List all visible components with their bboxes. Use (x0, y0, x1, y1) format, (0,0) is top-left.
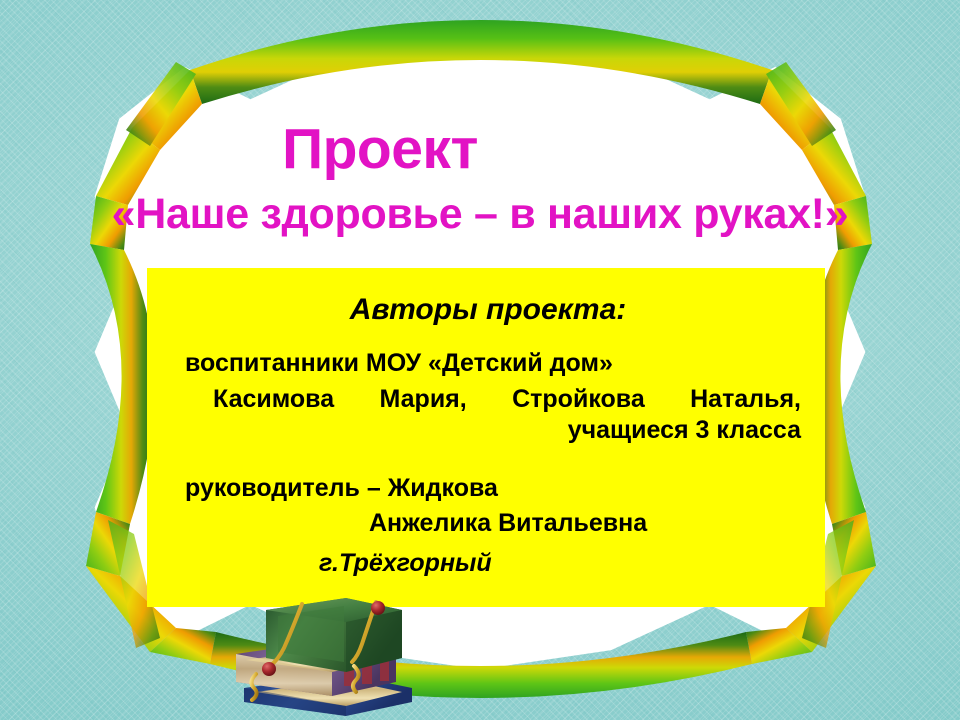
page-title: Проект (0, 120, 760, 178)
tassel-bead-left (262, 662, 276, 676)
page-subtitle: «Наше здоровье – в наших руках!» (0, 190, 960, 238)
authors-line-organisation: воспитанники МОУ «Детский дом» (169, 348, 807, 380)
authors-panel: Авторы проекта: воспитанники МОУ «Детски… (147, 268, 825, 607)
authors-line-city: г.Трёхгорный (169, 548, 807, 580)
tassel-bead-right (371, 601, 385, 615)
slide-canvas: Проект «Наше здоровье – в наших руках!» … (0, 0, 960, 720)
headline-block: Проект «Наше здоровье – в наших руках!» (0, 120, 960, 238)
authors-panel-heading: Авторы проекта: (169, 282, 807, 328)
authors-line-supervisor: руководитель – Жидкова (169, 473, 807, 505)
authors-line-pupils: Касимова Мария, Стройкова Наталья, учащи… (169, 384, 807, 447)
stack-of-books-illustration (226, 596, 426, 720)
authors-line-supervisor-name: Анжелика Витальевна (169, 508, 807, 540)
